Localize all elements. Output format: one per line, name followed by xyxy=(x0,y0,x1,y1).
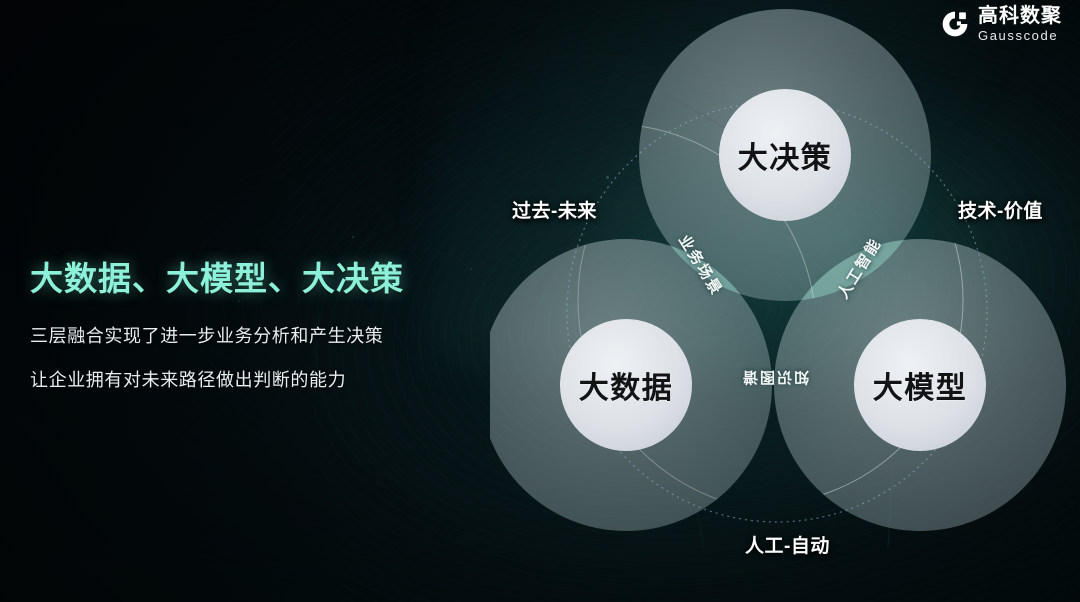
venn-axis-label-past-future: 过去-未来 xyxy=(512,196,597,223)
slide-canvas: 高科数聚 Gausscode 大数据、大模型、大决策 三层融合实现了进一步业务分… xyxy=(0,0,1080,602)
venn-core-label-bigdata: 大数据 xyxy=(579,363,674,407)
brand-logo: 高科数聚 Gausscode xyxy=(940,6,1062,42)
venn-diagram: 大决策 大数据 大模型 业务场景 人工智能 知识图谱 过去-未来 技术-价值 人… xyxy=(490,0,1080,602)
gausscode-ring-icon xyxy=(940,9,970,39)
brand-wordmark: 高科数聚 Gausscode xyxy=(978,6,1062,42)
copy-block: 大数据、大模型、大决策 三层融合实现了进一步业务分析和产生决策 让企业拥有对未来… xyxy=(30,252,470,392)
venn-axis-label-tech-value: 技术-价值 xyxy=(958,196,1043,223)
venn-axis-label-manual-automatic: 人工-自动 xyxy=(745,531,830,558)
background-speck xyxy=(352,236,354,238)
brand-name-cn: 高科数聚 xyxy=(978,6,1062,26)
subtitle-line-1: 三层融合实现了进一步业务分析和产生决策 xyxy=(30,322,470,348)
subtitle-line-2: 让企业拥有对未来路径做出判断的能力 xyxy=(30,366,470,392)
brand-name-en: Gausscode xyxy=(978,29,1062,42)
page-title: 大数据、大模型、大决策 xyxy=(30,252,470,300)
venn-overlap-label-knowledge-graph: 知识图谱 xyxy=(741,368,809,389)
background-speck xyxy=(470,268,472,270)
venn-core-label-decision: 大决策 xyxy=(738,133,833,177)
venn-svg xyxy=(490,0,1080,602)
venn-core-label-model: 大模型 xyxy=(873,363,968,407)
